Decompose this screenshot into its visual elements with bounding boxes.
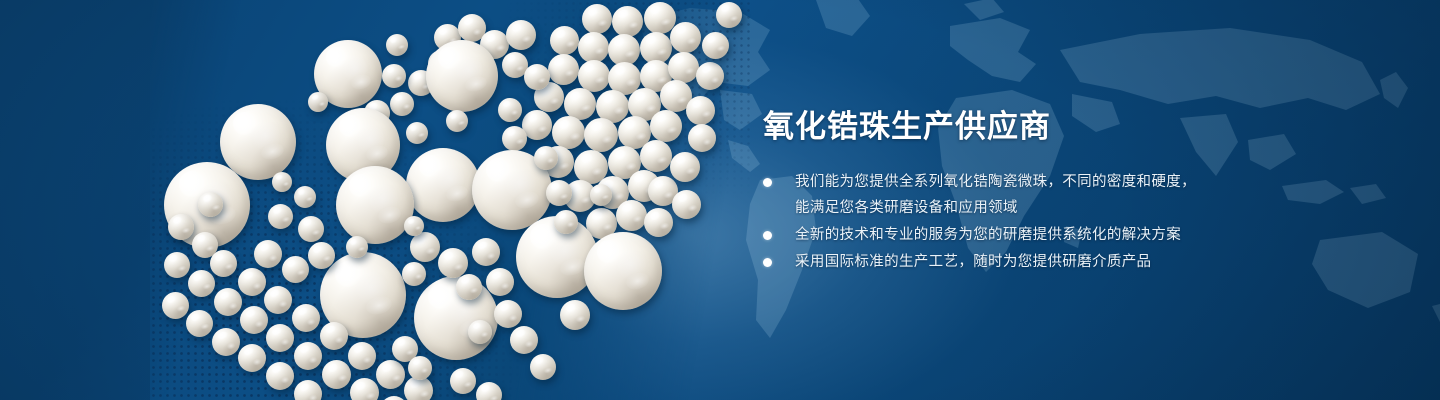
- bullet-text-1-line2: 能满足您各类研磨设备和应用领域: [795, 195, 1233, 221]
- bullet-dot-icon: [763, 258, 772, 267]
- bullet-text-2-line1: 全新的技术和专业的服务为您的研磨提供系统化的解决方案: [795, 227, 1181, 243]
- banner-headline: 氧化锆珠生产供应商: [763, 108, 1233, 147]
- zirconia-beads-photo: [150, 0, 750, 400]
- banner-bullet-list: 我们能为您提供全系列氧化锆陶瓷微珠，不同的密度和硬度， 能满足您各类研磨设备和应…: [763, 169, 1233, 275]
- bullet-item-2: 全新的技术和专业的服务为您的研磨提供系统化的解决方案: [763, 222, 1233, 248]
- hero-banner: 氧化锆珠生产供应商 我们能为您提供全系列氧化锆陶瓷微珠，不同的密度和硬度， 能满…: [0, 0, 1440, 400]
- bullet-dot-icon: [763, 231, 772, 240]
- bullet-item-1: 我们能为您提供全系列氧化锆陶瓷微珠，不同的密度和硬度， 能满足您各类研磨设备和应…: [763, 169, 1233, 221]
- banner-copy: 氧化锆珠生产供应商 我们能为您提供全系列氧化锆陶瓷微珠，不同的密度和硬度， 能满…: [763, 108, 1233, 276]
- bullet-item-3: 采用国际标准的生产工艺，随时为您提供研磨介质产品: [763, 249, 1233, 275]
- bullet-dot-icon: [763, 178, 772, 187]
- bead-cluster: [150, 0, 750, 400]
- bullet-text-1-line1: 我们能为您提供全系列氧化锆陶瓷微珠，不同的密度和硬度，: [795, 174, 1196, 190]
- bullet-text-3-line1: 采用国际标准的生产工艺，随时为您提供研磨介质产品: [795, 254, 1151, 270]
